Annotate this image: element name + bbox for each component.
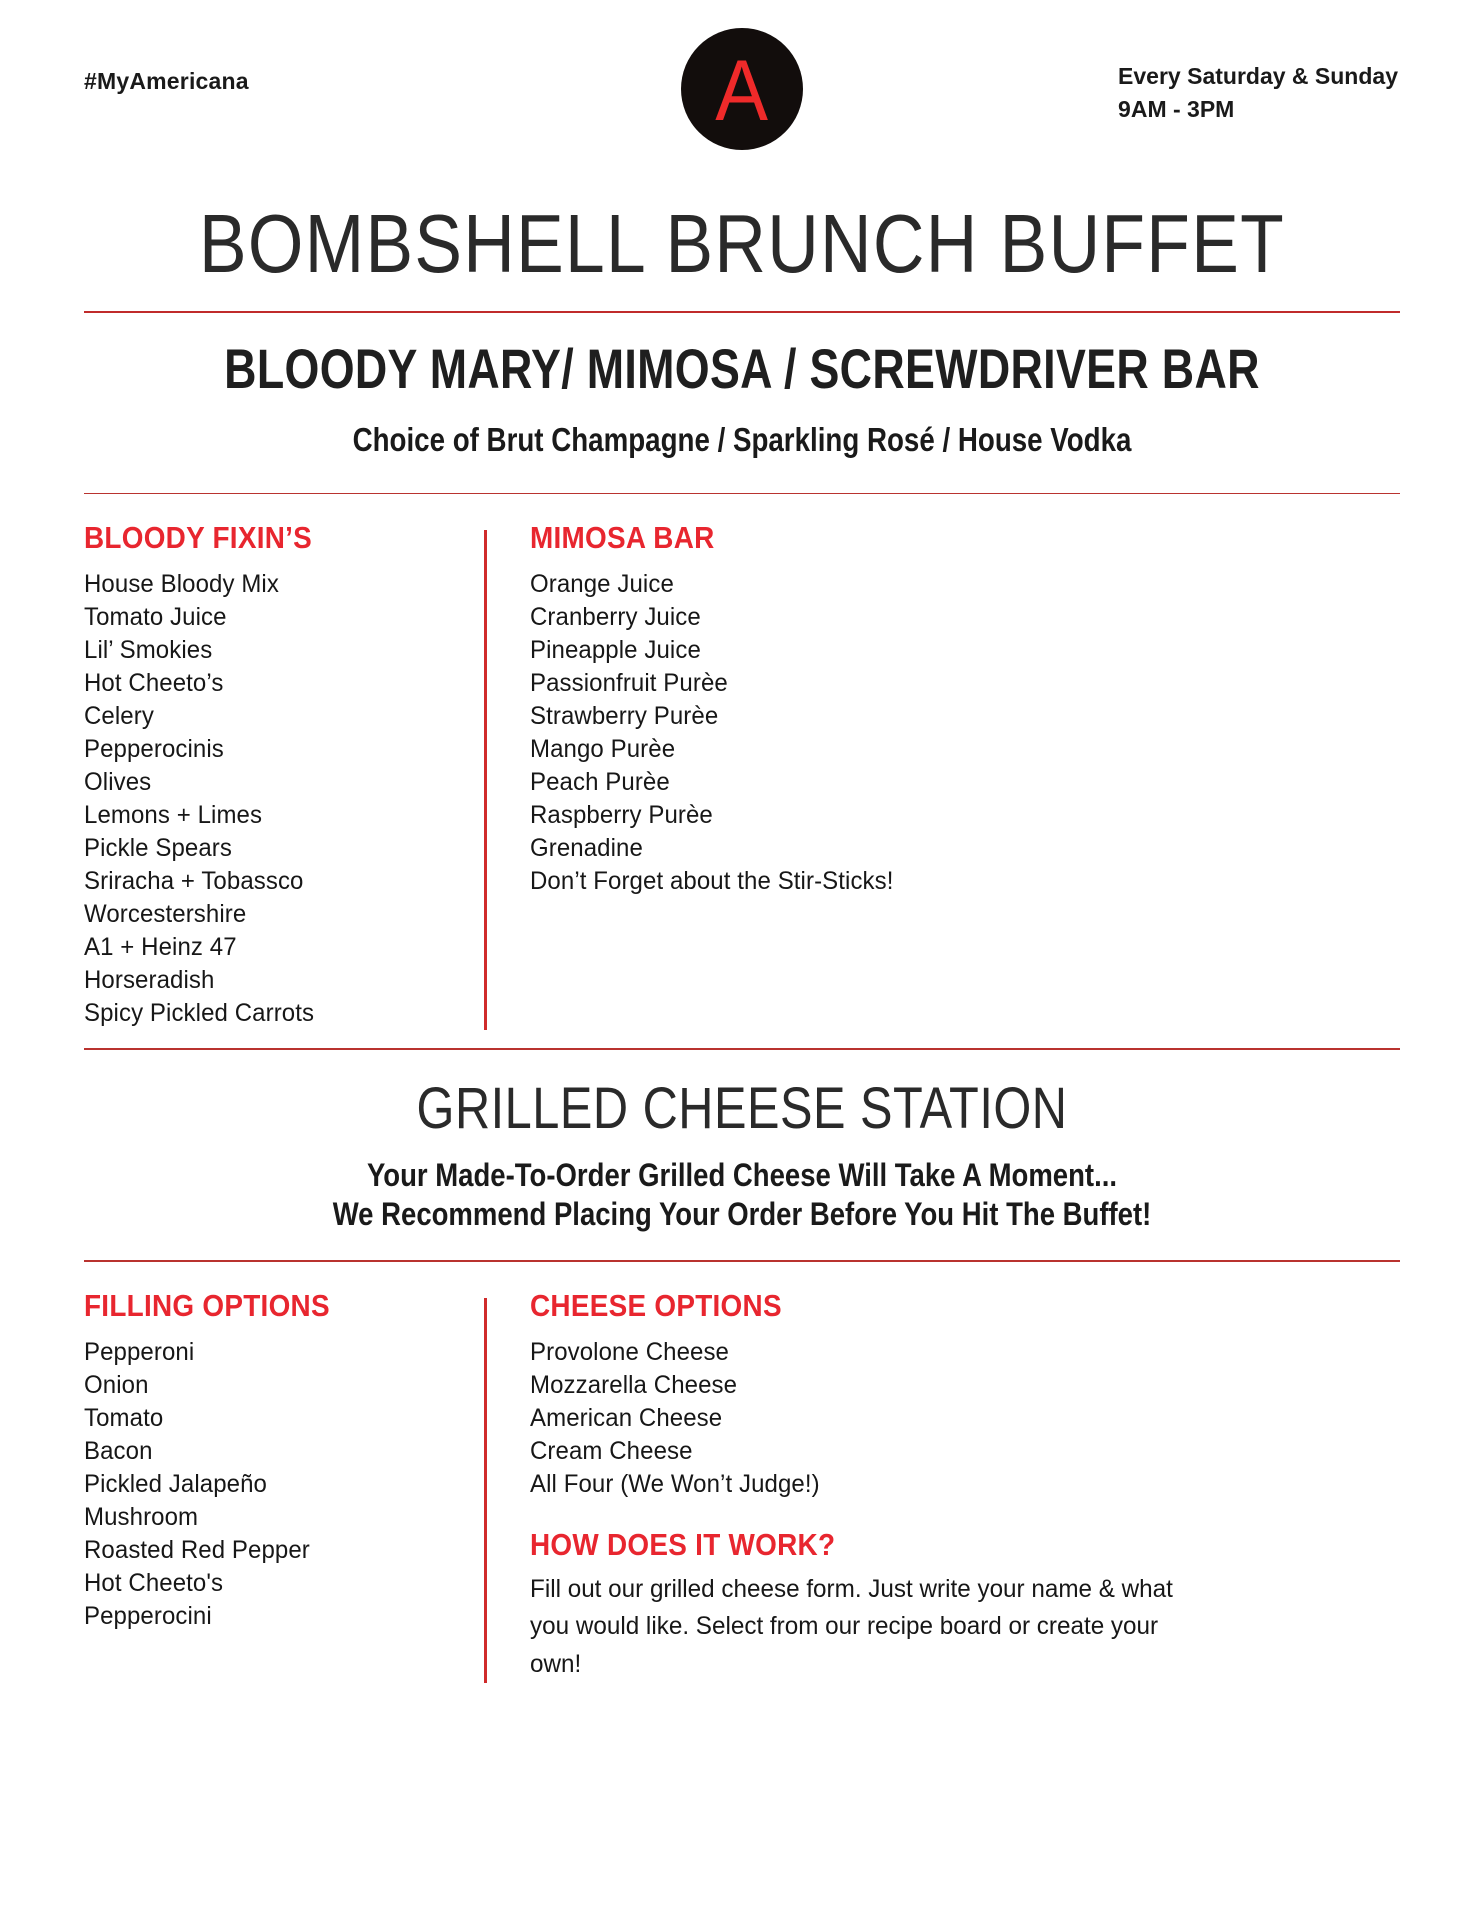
grilled-cheese-note: Your Made-To-Order Grilled Cheese Will T… bbox=[104, 1156, 1380, 1234]
mimosa-bar-heading: MIMOSA BAR bbox=[530, 520, 1313, 556]
list-item: Horseradish bbox=[84, 964, 449, 997]
list-item: Pickle Spears bbox=[84, 832, 449, 865]
filling-options-list: Pepperoni Onion Tomato Bacon Pickled Jal… bbox=[84, 1336, 464, 1633]
list-item: Lemons + Limes bbox=[84, 799, 449, 832]
list-item: Tomato bbox=[84, 1402, 449, 1435]
hashtag-text: #MyAmericana bbox=[84, 68, 249, 95]
column-divider bbox=[484, 530, 487, 1030]
list-item: Grenadine bbox=[530, 832, 1365, 865]
bloody-fixins-heading: BLOODY FIXIN’S bbox=[84, 520, 426, 556]
list-item: Don’t Forget about the Stir-Sticks! bbox=[530, 865, 1365, 898]
column-divider bbox=[484, 1298, 487, 1684]
americana-logo: A bbox=[681, 28, 803, 150]
list-item: Cranberry Juice bbox=[530, 601, 1365, 634]
bar-section-title: BLOODY MARY/ MIMOSA / SCREWDRIVER BAR bbox=[148, 341, 1335, 397]
list-item: Pepperoni bbox=[84, 1336, 449, 1369]
list-item: Pickled Jalapeño bbox=[84, 1468, 449, 1501]
list-item: Orange Juice bbox=[530, 568, 1365, 601]
page-header: #MyAmericana A Every Saturday & Sunday 9… bbox=[0, 0, 1484, 180]
list-item: Pepperocini bbox=[84, 1600, 449, 1633]
list-item: Lil’ Smokies bbox=[84, 634, 449, 667]
list-item: Hot Cheeto's bbox=[84, 1567, 449, 1600]
bar-columns: BLOODY FIXIN’S House Bloody Mix Tomato J… bbox=[84, 494, 1400, 1030]
list-item: Mushroom bbox=[84, 1501, 449, 1534]
schedule-days: Every Saturday & Sunday bbox=[1118, 60, 1398, 93]
filling-options-heading: FILLING OPTIONS bbox=[84, 1288, 426, 1324]
grilled-cheese-note-line1: Your Made-To-Order Grilled Cheese Will T… bbox=[104, 1156, 1380, 1195]
cheese-options-column: CHEESE OPTIONS Provolone Cheese Mozzarel… bbox=[484, 1288, 1400, 1684]
schedule-block: Every Saturday & Sunday 9AM - 3PM bbox=[1118, 60, 1398, 127]
list-item: Provolone Cheese bbox=[530, 1336, 1365, 1369]
list-item: Worcestershire bbox=[84, 898, 449, 931]
list-item: Hot Cheeto’s bbox=[84, 667, 449, 700]
menu-page: #MyAmericana A Every Saturday & Sunday 9… bbox=[0, 0, 1484, 1920]
list-item: Passionfruit Purèe bbox=[530, 667, 1365, 700]
list-item: Cream Cheese bbox=[530, 1435, 1365, 1468]
list-item: Tomato Juice bbox=[84, 601, 449, 634]
list-item: Spicy Pickled Carrots bbox=[84, 997, 449, 1030]
grilled-cheese-title: GRILLED CHEESE STATION bbox=[119, 1080, 1366, 1138]
filling-options-column: FILLING OPTIONS Pepperoni Onion Tomato B… bbox=[84, 1288, 484, 1684]
list-item: Pepperocinis bbox=[84, 733, 449, 766]
cheese-options-heading: CHEESE OPTIONS bbox=[530, 1288, 1313, 1324]
grilled-cheese-columns: FILLING OPTIONS Pepperoni Onion Tomato B… bbox=[84, 1262, 1400, 1684]
list-item: Bacon bbox=[84, 1435, 449, 1468]
logo-letter-icon: A bbox=[716, 48, 769, 134]
divider-above-grilled-cheese bbox=[84, 1048, 1400, 1050]
list-item: Celery bbox=[84, 700, 449, 733]
bloody-fixins-list: House Bloody Mix Tomato Juice Lil’ Smoki… bbox=[84, 568, 464, 1030]
list-item: House Bloody Mix bbox=[84, 568, 449, 601]
how-it-works-body: Fill out our grilled cheese form. Just w… bbox=[530, 1571, 1190, 1684]
mimosa-bar-column: MIMOSA BAR Orange Juice Cranberry Juice … bbox=[484, 520, 1400, 1030]
grilled-cheese-section: GRILLED CHEESE STATION Your Made-To-Orde… bbox=[0, 1048, 1484, 1683]
schedule-hours: 9AM - 3PM bbox=[1118, 93, 1398, 126]
list-item: Olives bbox=[84, 766, 449, 799]
list-item: Peach Purèe bbox=[530, 766, 1365, 799]
divider-under-title bbox=[84, 311, 1400, 313]
list-item: Onion bbox=[84, 1369, 449, 1402]
mimosa-bar-list: Orange Juice Cranberry Juice Pineapple J… bbox=[530, 568, 1400, 898]
cheese-options-list: Provolone Cheese Mozzarella Cheese Ameri… bbox=[530, 1336, 1400, 1501]
list-item: Strawberry Purèe bbox=[530, 700, 1365, 733]
grilled-cheese-note-line2: We Recommend Placing Your Order Before Y… bbox=[104, 1195, 1380, 1234]
list-item: Pineapple Juice bbox=[530, 634, 1365, 667]
bloody-fixins-column: BLOODY FIXIN’S House Bloody Mix Tomato J… bbox=[84, 520, 484, 1030]
list-item: Mango Purèe bbox=[530, 733, 1365, 766]
list-item: Mozzarella Cheese bbox=[530, 1369, 1365, 1402]
list-item: All Four (We Won’t Judge!) bbox=[530, 1468, 1365, 1501]
list-item: Raspberry Purèe bbox=[530, 799, 1365, 832]
how-it-works-heading: HOW DOES IT WORK? bbox=[530, 1527, 1313, 1563]
list-item: Roasted Red Pepper bbox=[84, 1534, 449, 1567]
list-item: A1 + Heinz 47 bbox=[84, 931, 449, 964]
list-item: American Cheese bbox=[530, 1402, 1365, 1435]
bar-choice-line: Choice of Brut Champagne / Sparkling Ros… bbox=[119, 421, 1366, 459]
list-item: Sriracha + Tobassco bbox=[84, 865, 449, 898]
page-title: BOMBSHELL BRUNCH BUFFET bbox=[104, 202, 1380, 285]
